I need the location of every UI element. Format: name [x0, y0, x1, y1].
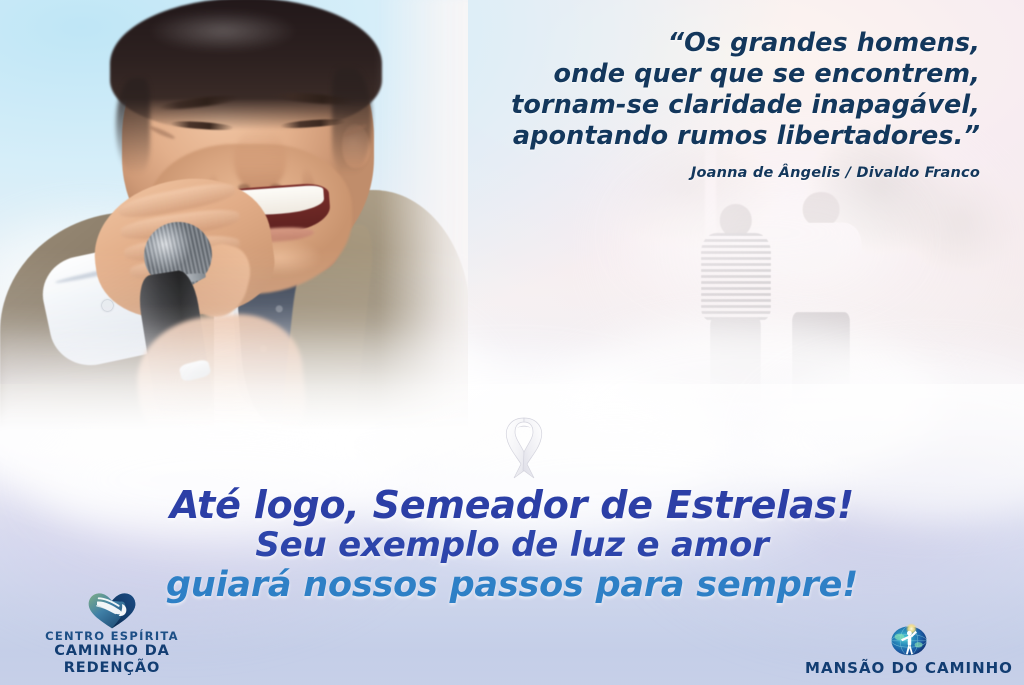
- headline-block: Até logo, Semeador de Estrelas! Seu exem…: [0, 484, 1024, 606]
- cloud: [635, 178, 901, 288]
- quote-line-4: apontando rumos libertadores.”: [420, 121, 980, 152]
- heart-hands-icon: [14, 590, 210, 630]
- quote-line-2: onde quer que se encontrem,: [420, 59, 980, 90]
- logo-centro-espirita: CENTRO ESPÍRITA CAMINHO DA REDENÇÃO: [14, 590, 210, 677]
- quote-attribution: Joanna de Ângelis / Divaldo Franco: [420, 165, 980, 181]
- globe-figure-icon: [804, 620, 1014, 660]
- tribute-poster: “Os grandes homens, onde quer que se enc…: [0, 0, 1024, 685]
- quote-block: “Os grandes homens, onde quer que se enc…: [420, 28, 980, 181]
- quote-line-1: “Os grandes homens,: [420, 28, 980, 59]
- sideburn-left: [116, 78, 150, 174]
- mourning-ribbon: [484, 406, 564, 486]
- logo-left-line-2: CAMINHO DA REDENÇÃO: [14, 643, 210, 677]
- divaldo-franco-portrait: [0, 0, 468, 464]
- quote-line-3: tornam-se claridade inapagável,: [420, 90, 980, 121]
- cuff-button: [102, 300, 113, 311]
- headline-line-2: Seu exemplo de luz e amor: [0, 526, 1024, 565]
- nose: [234, 130, 286, 192]
- logo-right-line-2: MANSÃO DO CAMINHO: [804, 660, 1014, 677]
- headline-line-1: Até logo, Semeador de Estrelas!: [0, 484, 1024, 526]
- logo-left-line-1: CENTRO ESPÍRITA: [14, 630, 210, 643]
- logo-mansao-do-caminho: MANSÃO DO CAMINHO: [804, 620, 1014, 677]
- hair-highlight: [148, 10, 298, 52]
